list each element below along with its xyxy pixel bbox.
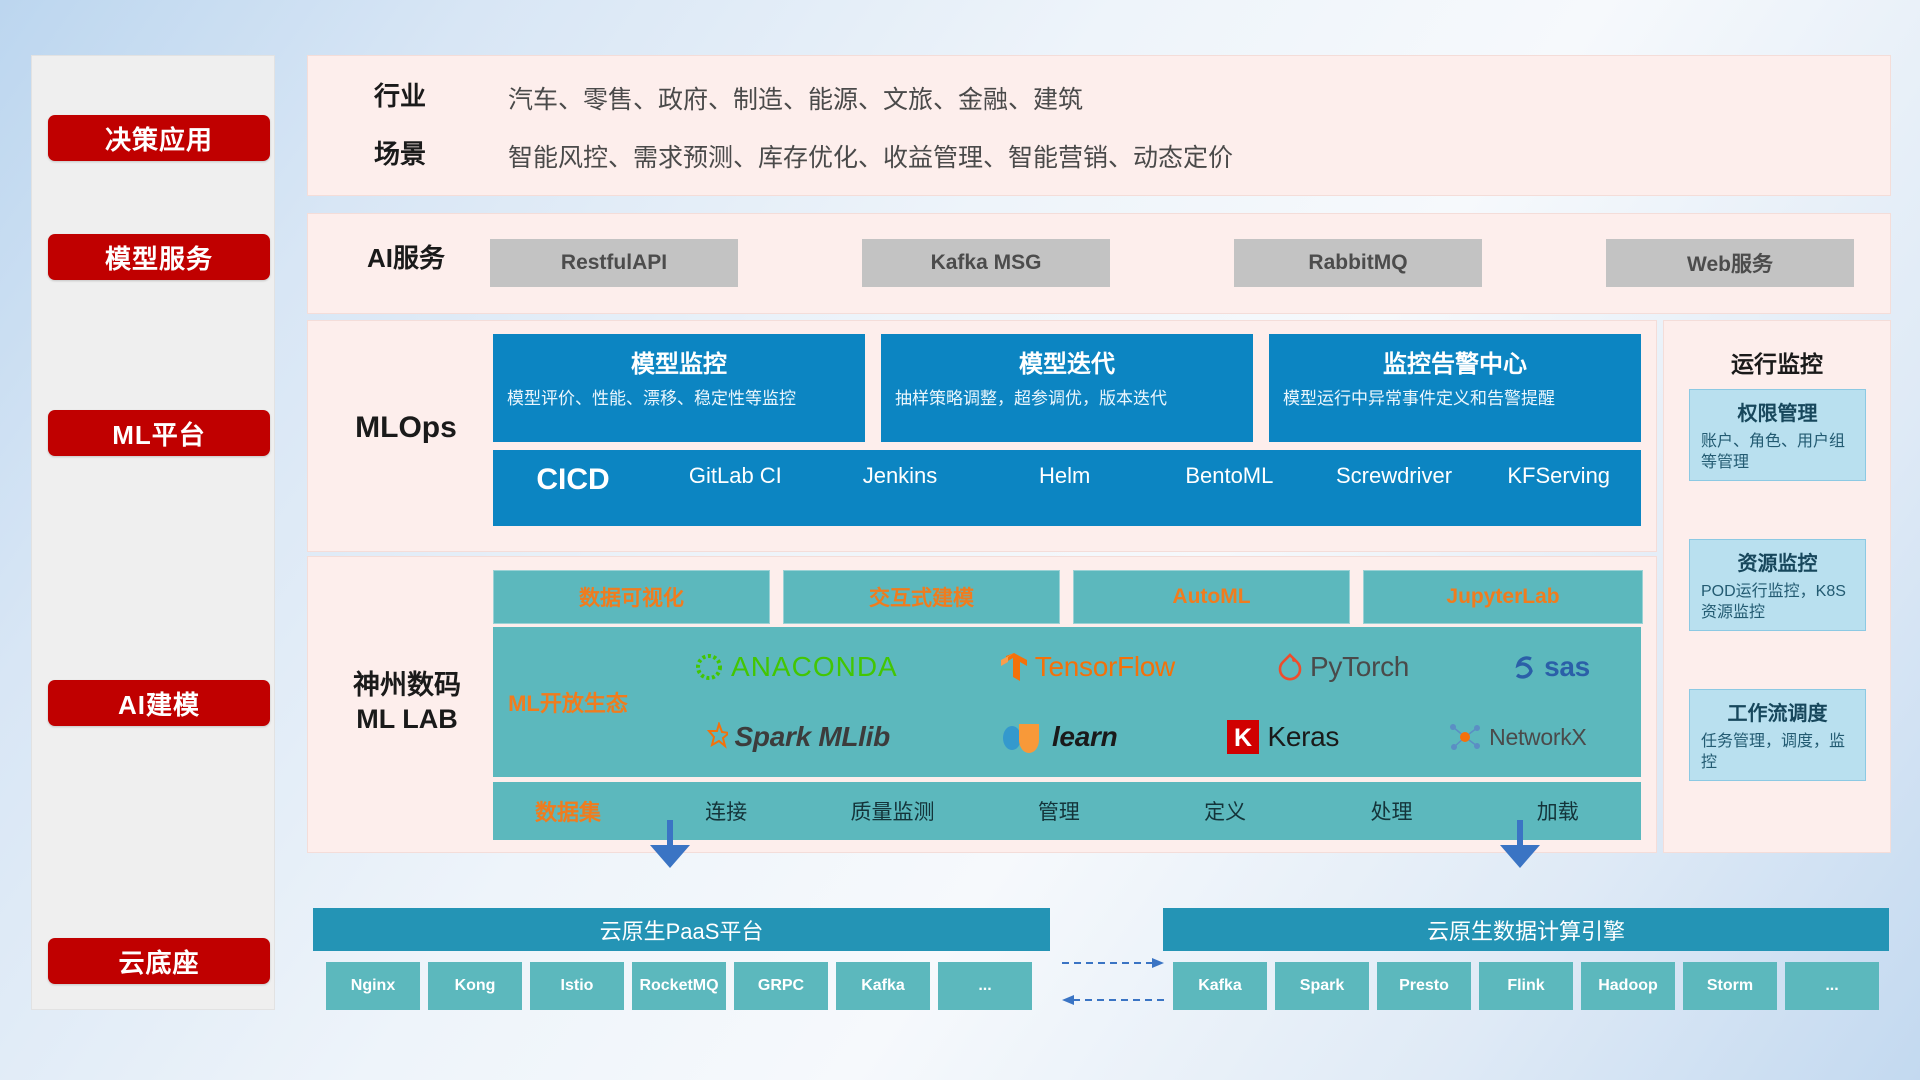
ml-lab-label-line1: 神州数码 xyxy=(353,670,461,700)
card-title: 模型迭代 xyxy=(895,344,1239,379)
chip-more-right[interactable]: ... xyxy=(1785,962,1879,1010)
scikit-learn-logo-text: learn xyxy=(1052,721,1117,753)
card-desc: 抽样策略调整，超参调优，版本迭代 xyxy=(895,388,1239,411)
dataset-item-load[interactable]: 加载 xyxy=(1475,796,1641,826)
sas-logo: sas xyxy=(1511,651,1590,683)
ai-service-label: AI服务 xyxy=(341,242,471,275)
chip-hadoop[interactable]: Hadoop xyxy=(1581,962,1675,1010)
chip-nginx[interactable]: Nginx xyxy=(326,962,420,1010)
tier-label: ML平台 xyxy=(112,415,206,452)
tab-label: AutoML xyxy=(1172,585,1250,609)
mlops-panel: MLOps 模型监控 模型评价、性能、漂移、稳定性等监控 模型迭代 抽样策略调整… xyxy=(307,320,1657,552)
ml-lab-label: 神州数码 ML LAB xyxy=(322,669,492,737)
monitoring-title: 运行监控 xyxy=(1664,345,1890,379)
dashed-arrow-right-icon xyxy=(1152,958,1164,968)
service-label: RestfulAPI xyxy=(561,251,667,275)
chip-grpc[interactable]: GRPC xyxy=(734,962,828,1010)
chip-flink[interactable]: Flink xyxy=(1479,962,1573,1010)
chip-kafka-right[interactable]: Kafka xyxy=(1173,962,1267,1010)
anaconda-logo: ANACONDA xyxy=(694,651,898,683)
mlops-card-model-iteration[interactable]: 模型迭代 抽样策略调整，超参调优，版本迭代 xyxy=(881,334,1253,442)
industry-label: 行业 xyxy=(350,80,450,113)
dataset-lead-label: 数据集 xyxy=(493,795,643,827)
cicd-item-bentoml[interactable]: BentoML xyxy=(1147,463,1312,488)
dataset-item-define[interactable]: 定义 xyxy=(1142,796,1308,826)
spark-star-icon xyxy=(698,722,728,752)
ml-ecosystem-band: ML开放生态 ANACONDA TensorFlow xyxy=(493,627,1641,777)
anaconda-logo-text: ANACONDA xyxy=(731,651,898,683)
card-title: 监控告警中心 xyxy=(1283,344,1627,379)
chip-label: Storm xyxy=(1707,977,1753,995)
cloud-paas-bar[interactable]: 云原生PaaS平台 xyxy=(313,908,1050,951)
tab-automl[interactable]: AutoML xyxy=(1073,570,1350,624)
networkx-logo-text: NetworkX xyxy=(1489,724,1586,751)
spark-mllib-logo: Spark MLlib xyxy=(698,721,890,753)
tier-chip-decision[interactable]: 决策应用 xyxy=(48,115,270,161)
dataset-row: 数据集 连接 质量监测 管理 定义 处理 加载 xyxy=(493,782,1641,840)
dataset-item-manage[interactable]: 管理 xyxy=(976,796,1142,826)
card-desc: 账户、角色、用户组等管理 xyxy=(1701,431,1854,473)
spark-mllib-logo-text: Spark MLlib xyxy=(735,721,890,753)
card-desc: 模型评价、性能、漂移、稳定性等监控 xyxy=(507,388,851,411)
card-desc: POD运行监控，K8S资源监控 xyxy=(1701,581,1854,623)
anaconda-mark-icon xyxy=(694,652,724,682)
cloud-data-engine-bar[interactable]: 云原生数据计算引擎 xyxy=(1163,908,1889,951)
chip-label: GRPC xyxy=(758,977,804,995)
tensorflow-mark-icon xyxy=(1000,651,1028,683)
service-rabbitmq[interactable]: RabbitMQ xyxy=(1234,239,1482,287)
chip-label: Kong xyxy=(455,977,496,995)
card-title: 权限管理 xyxy=(1701,397,1854,426)
chip-more-left[interactable]: ... xyxy=(938,962,1032,1010)
cicd-item-screwdriver[interactable]: Screwdriver xyxy=(1312,463,1477,488)
cicd-item-helm[interactable]: Helm xyxy=(982,463,1147,488)
tab-label: 交互式建模 xyxy=(869,582,974,612)
keras-mark-icon: K xyxy=(1226,719,1260,755)
mlops-card-alert-center[interactable]: 监控告警中心 模型运行中异常事件定义和告警提醒 xyxy=(1269,334,1641,442)
chip-label: Kafka xyxy=(861,977,905,995)
dashed-arrow-left-icon xyxy=(1062,995,1074,1005)
dataset-item-quality[interactable]: 质量监测 xyxy=(809,796,975,826)
mlops-label: MLOps xyxy=(326,409,486,447)
cicd-item-gitlab-ci[interactable]: GitLab CI xyxy=(653,463,818,488)
ai-service-panel: AI服务 RestfulAPI Kafka MSG RabbitMQ Web服务 xyxy=(307,213,1891,314)
networkx-logo: NetworkX xyxy=(1448,721,1586,753)
tab-data-visualization[interactable]: 数据可视化 xyxy=(493,570,770,624)
card-title: 资源监控 xyxy=(1701,547,1854,576)
chip-label: RocketMQ xyxy=(639,977,718,995)
sas-logo-text: sas xyxy=(1544,651,1590,683)
scenario-label: 场景 xyxy=(350,138,450,171)
service-label: Web服务 xyxy=(1687,248,1773,278)
svg-text:K: K xyxy=(1234,724,1252,752)
monitor-card-resource[interactable]: 资源监控 POD运行监控，K8S资源监控 xyxy=(1689,539,1866,631)
scikit-learn-mark-icon xyxy=(999,721,1045,753)
cicd-strip: CICD GitLab CI Jenkins Helm BentoML Scre… xyxy=(493,450,1641,526)
pytorch-logo: PyTorch xyxy=(1277,651,1409,683)
monitor-card-permission[interactable]: 权限管理 账户、角色、用户组等管理 xyxy=(1689,389,1866,481)
chip-label: Nginx xyxy=(351,977,395,995)
tensorflow-logo: TensorFlow xyxy=(1000,651,1175,683)
cicd-lead-label: CICD xyxy=(493,463,653,497)
tier-label: AI建模 xyxy=(118,685,200,722)
tier-label: 决策应用 xyxy=(105,120,213,157)
chip-kafka-left[interactable]: Kafka xyxy=(836,962,930,1010)
ecosystem-logos: ANACONDA TensorFlow xyxy=(643,627,1641,777)
chip-label: Flink xyxy=(1507,977,1544,995)
ecosystem-label: ML开放生态 xyxy=(493,686,643,718)
tier-label: 模型服务 xyxy=(105,239,213,276)
service-kafka-msg[interactable]: Kafka MSG xyxy=(862,239,1110,287)
service-label: Kafka MSG xyxy=(931,251,1042,275)
card-title: 工作流调度 xyxy=(1701,697,1854,726)
chip-label: Spark xyxy=(1300,977,1344,995)
tier-chip-ai-modeling[interactable]: AI建模 xyxy=(48,680,270,726)
scenario-value: 智能风控、需求预测、库存优化、收益管理、智能营销、动态定价 xyxy=(508,138,1233,174)
architecture-diagram: 决策应用 模型服务 ML平台 AI建模 云底座 行业 汽车、零售、政府、制造、能… xyxy=(0,0,1920,1080)
dataset-item-connect[interactable]: 连接 xyxy=(643,796,809,826)
cloud-paas-label: 云原生PaaS平台 xyxy=(600,914,764,946)
cicd-item-jenkins[interactable]: Jenkins xyxy=(818,463,983,488)
tensorflow-logo-text: TensorFlow xyxy=(1035,651,1175,683)
tier-rail xyxy=(31,55,275,1010)
tier-chip-cloud-base[interactable]: 云底座 xyxy=(48,938,270,984)
chip-label: ... xyxy=(1825,977,1838,995)
service-label: RabbitMQ xyxy=(1308,251,1407,275)
chip-label: Presto xyxy=(1399,977,1449,995)
ml-lab-label-line2: ML LAB xyxy=(356,704,458,734)
tab-interactive-modeling[interactable]: 交互式建模 xyxy=(783,570,1060,624)
chip-label: Hadoop xyxy=(1598,977,1658,995)
chip-spark[interactable]: Spark xyxy=(1275,962,1369,1010)
chip-storm[interactable]: Storm xyxy=(1683,962,1777,1010)
chip-presto[interactable]: Presto xyxy=(1377,962,1471,1010)
keras-logo-text: Keras xyxy=(1267,721,1339,753)
keras-logo: K Keras xyxy=(1226,719,1339,755)
service-web[interactable]: Web服务 xyxy=(1606,239,1854,287)
ecosystem-logo-row-2: Spark MLlib learn K K xyxy=(643,703,1641,771)
cicd-item-kfserving[interactable]: KFServing xyxy=(1476,463,1641,488)
ecosystem-logo-row-1: ANACONDA TensorFlow xyxy=(643,633,1641,701)
tier-chip-model-service[interactable]: 模型服务 xyxy=(48,234,270,280)
scikit-learn-logo: learn xyxy=(999,721,1117,753)
card-desc: 模型运行中异常事件定义和告警提醒 xyxy=(1283,388,1627,411)
tab-label: 数据可视化 xyxy=(579,582,684,612)
tier-label: 云底座 xyxy=(118,943,199,980)
sas-mark-icon xyxy=(1511,653,1537,681)
chip-rocketmq[interactable]: RocketMQ xyxy=(632,962,726,1010)
card-desc: 任务管理，调度，监控 xyxy=(1701,731,1854,773)
industry-value: 汽车、零售、政府、制造、能源、文旅、金融、建筑 xyxy=(508,80,1083,116)
networkx-mark-icon xyxy=(1448,721,1482,753)
chip-kong[interactable]: Kong xyxy=(428,962,522,1010)
ai-modeling-panel: 神州数码 ML LAB 数据可视化 交互式建模 AutoML JupyterLa… xyxy=(307,556,1657,853)
chip-label: Istio xyxy=(561,977,594,995)
tab-label: JupyterLab xyxy=(1446,585,1559,609)
pytorch-logo-text: PyTorch xyxy=(1310,651,1409,683)
tier-chip-ml-platform[interactable]: ML平台 xyxy=(48,410,270,456)
application-layer-panel: 行业 汽车、零售、政府、制造、能源、文旅、金融、建筑 场景 智能风控、需求预测、… xyxy=(307,55,1891,196)
chip-istio[interactable]: Istio xyxy=(530,962,624,1010)
pytorch-mark-icon xyxy=(1277,652,1303,682)
cloud-data-engine-label: 云原生数据计算引擎 xyxy=(1427,914,1625,946)
monitoring-panel: 运行监控 权限管理 账户、角色、用户组等管理 资源监控 POD运行监控，K8S资… xyxy=(1663,320,1891,853)
card-title: 模型监控 xyxy=(507,344,851,379)
monitor-card-workflow[interactable]: 工作流调度 任务管理，调度，监控 xyxy=(1689,689,1866,781)
service-restfulapi[interactable]: RestfulAPI xyxy=(490,239,738,287)
chip-label: ... xyxy=(978,977,991,995)
dataset-item-process[interactable]: 处理 xyxy=(1308,796,1474,826)
mlops-card-model-monitor[interactable]: 模型监控 模型评价、性能、漂移、稳定性等监控 xyxy=(493,334,865,442)
tab-jupyterlab[interactable]: JupyterLab xyxy=(1363,570,1643,624)
chip-label: Kafka xyxy=(1198,977,1242,995)
